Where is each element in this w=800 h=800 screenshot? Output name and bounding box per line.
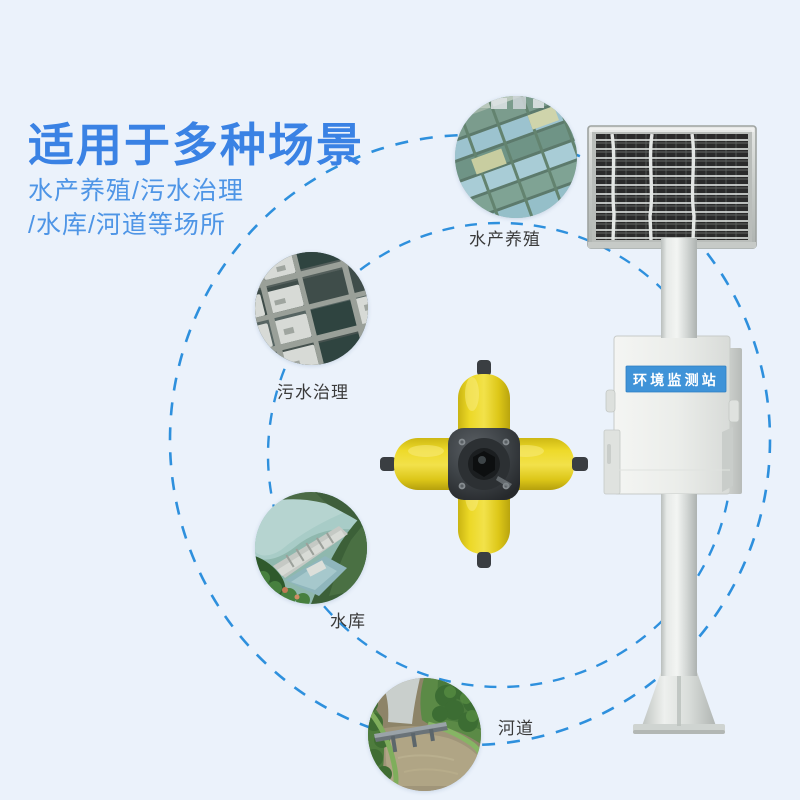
buoy-hub: [448, 428, 520, 500]
pole-base-plate: [633, 672, 725, 734]
subtitle-line-2: /水库/河道等场所: [28, 213, 364, 238]
scene-label-aquaculture: 水产养殖: [469, 225, 541, 250]
infographic-canvas: 适用于多种场景 水产养殖/污水治理 /水库/河道等场所: [0, 0, 800, 800]
station-cabinet[interactable]: 环境监测站: [604, 336, 742, 494]
scene-label-river: 河道: [498, 714, 534, 739]
pole-upper-segment: [661, 238, 697, 338]
scene-label-reservoir: 水库: [330, 607, 366, 632]
solar-panel[interactable]: [588, 126, 756, 248]
photo-dam-reservoir-hills: [255, 492, 367, 604]
pole-lower-segment: [661, 494, 697, 676]
photo-river-channel-with-bridge: [368, 678, 481, 791]
station-sign-text: 环境监测站: [633, 372, 719, 388]
scene-bubble-sewage[interactable]: [255, 252, 368, 365]
headline-block: 适用于多种场景 水产养殖/污水治理 /水库/河道等场所: [28, 122, 364, 238]
page-title: 适用于多种场景: [28, 122, 364, 168]
scene-bubble-reservoir[interactable]: [255, 492, 367, 604]
subtitle-line-1: 水产养殖/污水治理: [28, 179, 364, 204]
scene-label-sewage: 污水治理: [277, 378, 349, 403]
solar-cells: [596, 134, 748, 240]
scene-bubble-river[interactable]: [368, 678, 481, 791]
photo-aerial-fish-farm-ponds: [455, 96, 577, 218]
water-quality-buoy[interactable]: [378, 358, 590, 570]
photo-sewage-treatment-aeration-tanks: [255, 252, 368, 365]
scene-bubble-aquaculture[interactable]: [455, 96, 577, 218]
